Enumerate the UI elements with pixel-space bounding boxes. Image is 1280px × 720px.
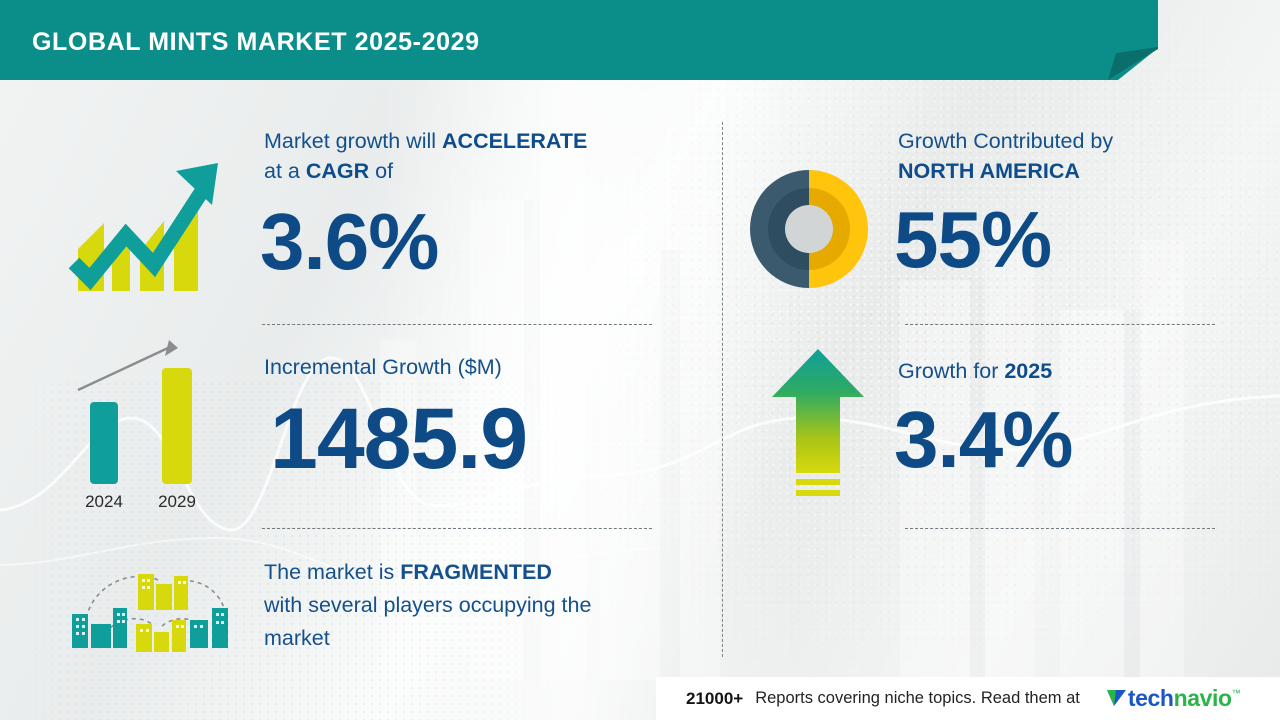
divider-left-1 [262,324,652,325]
growth-arrow-chart-icon [68,155,228,295]
yearly-caption-plain: Growth for [898,359,1004,383]
frag-text-part2: with several players occupying the [264,593,591,617]
stat-fragmentation-text: The market is FRAGMENTED with several pl… [264,556,694,655]
stat-incremental-growth: Incremental Growth ($M) 1485.9 [264,352,684,482]
stat-cagr-caption: Market growth will ACCELERATE at a CAGR … [264,126,684,186]
column-divider [722,122,723,657]
frag-text-part3: market [264,626,330,650]
stat-incremental-value: 1485.9 [270,396,684,482]
logo-text-navio: navio [1174,687,1232,710]
svg-text:2024: 2024 [85,492,123,511]
connected-buildings-icon [62,558,242,663]
cagr-caption-bold-cagr: CAGR [306,159,369,183]
logo-trademark: ™ [1232,688,1241,698]
region-caption-plain: Growth Contributed by [898,129,1113,153]
divider-right-2 [905,528,1215,529]
svg-text:2029: 2029 [158,492,196,511]
up-arrow-icon [768,345,868,510]
cagr-caption-plain-1: Market growth will [264,129,442,153]
divider-left-2 [262,528,652,529]
stat-region-caption: Growth Contributed by NORTH AMERICA [898,126,1238,186]
divider-right-1 [905,324,1215,325]
yearly-caption-bold: 2025 [1004,359,1052,383]
cagr-caption-plain-2: at a [264,159,306,183]
stat-yearly-value: 3.4% [894,400,1238,480]
cagr-caption-tail: of [369,159,393,183]
stat-region-value: 55% [894,200,1238,280]
technavio-arrow-logo-icon [1106,687,1128,709]
cagr-caption-bold-accelerate: ACCELERATE [442,129,587,153]
footer: 21000+ Reports covering niche topics. Re… [656,677,1280,720]
frag-text-bold: FRAGMENTED [400,560,552,584]
header: GLOBAL MINTS MARKET 2025-2029 [0,0,1280,80]
stat-yearly-caption: Growth for 2025 [898,356,1238,386]
two-bar-comparison-icon: 2024 2029 [70,330,220,515]
stat-cagr-value: 3.6% [260,202,684,282]
stat-fragmentation: The market is FRAGMENTED with several pl… [264,556,694,655]
stat-incremental-caption: Incremental Growth ($M) [264,352,684,382]
footer-tagline: Reports covering niche topics. Read them… [755,689,1080,708]
technavio-logo[interactable]: technavio™ [1106,687,1241,710]
logo-text-tech: tech [1128,687,1174,710]
region-caption-bold: NORTH AMERICA [898,159,1080,183]
footer-report-count: 21000+ [686,689,743,709]
infographic-page: GLOBAL MINTS MARKET 2025-2029 2024 2029 [0,0,1280,720]
stat-cagr: Market growth will ACCELERATE at a CAGR … [264,126,684,282]
donut-chart-icon [748,168,870,290]
stat-yearly-growth: Growth for 2025 3.4% [898,356,1238,480]
frag-text-part1: The market is [264,560,400,584]
stat-region-contribution: Growth Contributed by NORTH AMERICA 55% [898,126,1238,280]
page-title: GLOBAL MINTS MARKET 2025-2029 [32,28,480,57]
